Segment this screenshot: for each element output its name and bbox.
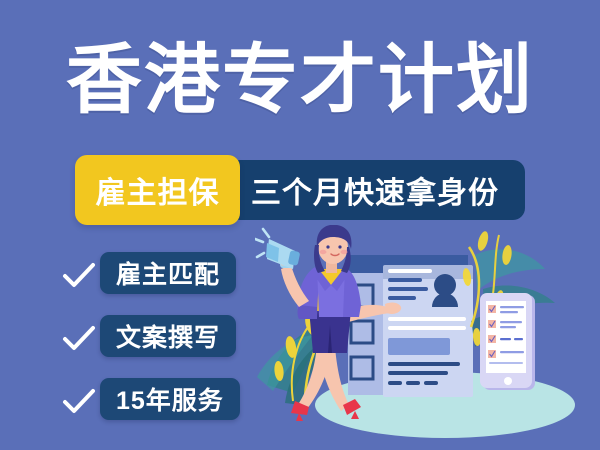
poster-canvas: 香港专才计划 三个月快速拿身份 雇主担保 雇主匹配 文案撰写 15年服务	[0, 0, 600, 450]
check-icon	[62, 260, 96, 292]
badge-row: 三个月快速拿身份 雇主担保	[0, 155, 600, 227]
feature-checklist: 雇主匹配 文案撰写 15年服务	[62, 252, 262, 441]
badge-secondary: 三个月快速拿身份	[228, 160, 525, 220]
page-title: 香港专才计划	[0, 38, 600, 124]
megaphone-icon	[255, 229, 300, 269]
resume-document	[348, 255, 473, 397]
checklist-pill-0: 雇主匹配	[100, 252, 236, 294]
avatar	[432, 274, 458, 307]
tablet-checklist	[480, 293, 535, 390]
check-icon	[62, 323, 96, 355]
list-item: 15年服务	[62, 378, 262, 426]
checklist-pill-2: 15年服务	[100, 378, 240, 420]
badge-primary: 雇主担保	[75, 155, 240, 225]
illustration	[255, 225, 600, 450]
check-icon	[62, 386, 96, 418]
list-item: 文案撰写	[62, 315, 262, 363]
checklist-pill-1: 文案撰写	[100, 315, 236, 357]
list-item: 雇主匹配	[62, 252, 262, 300]
